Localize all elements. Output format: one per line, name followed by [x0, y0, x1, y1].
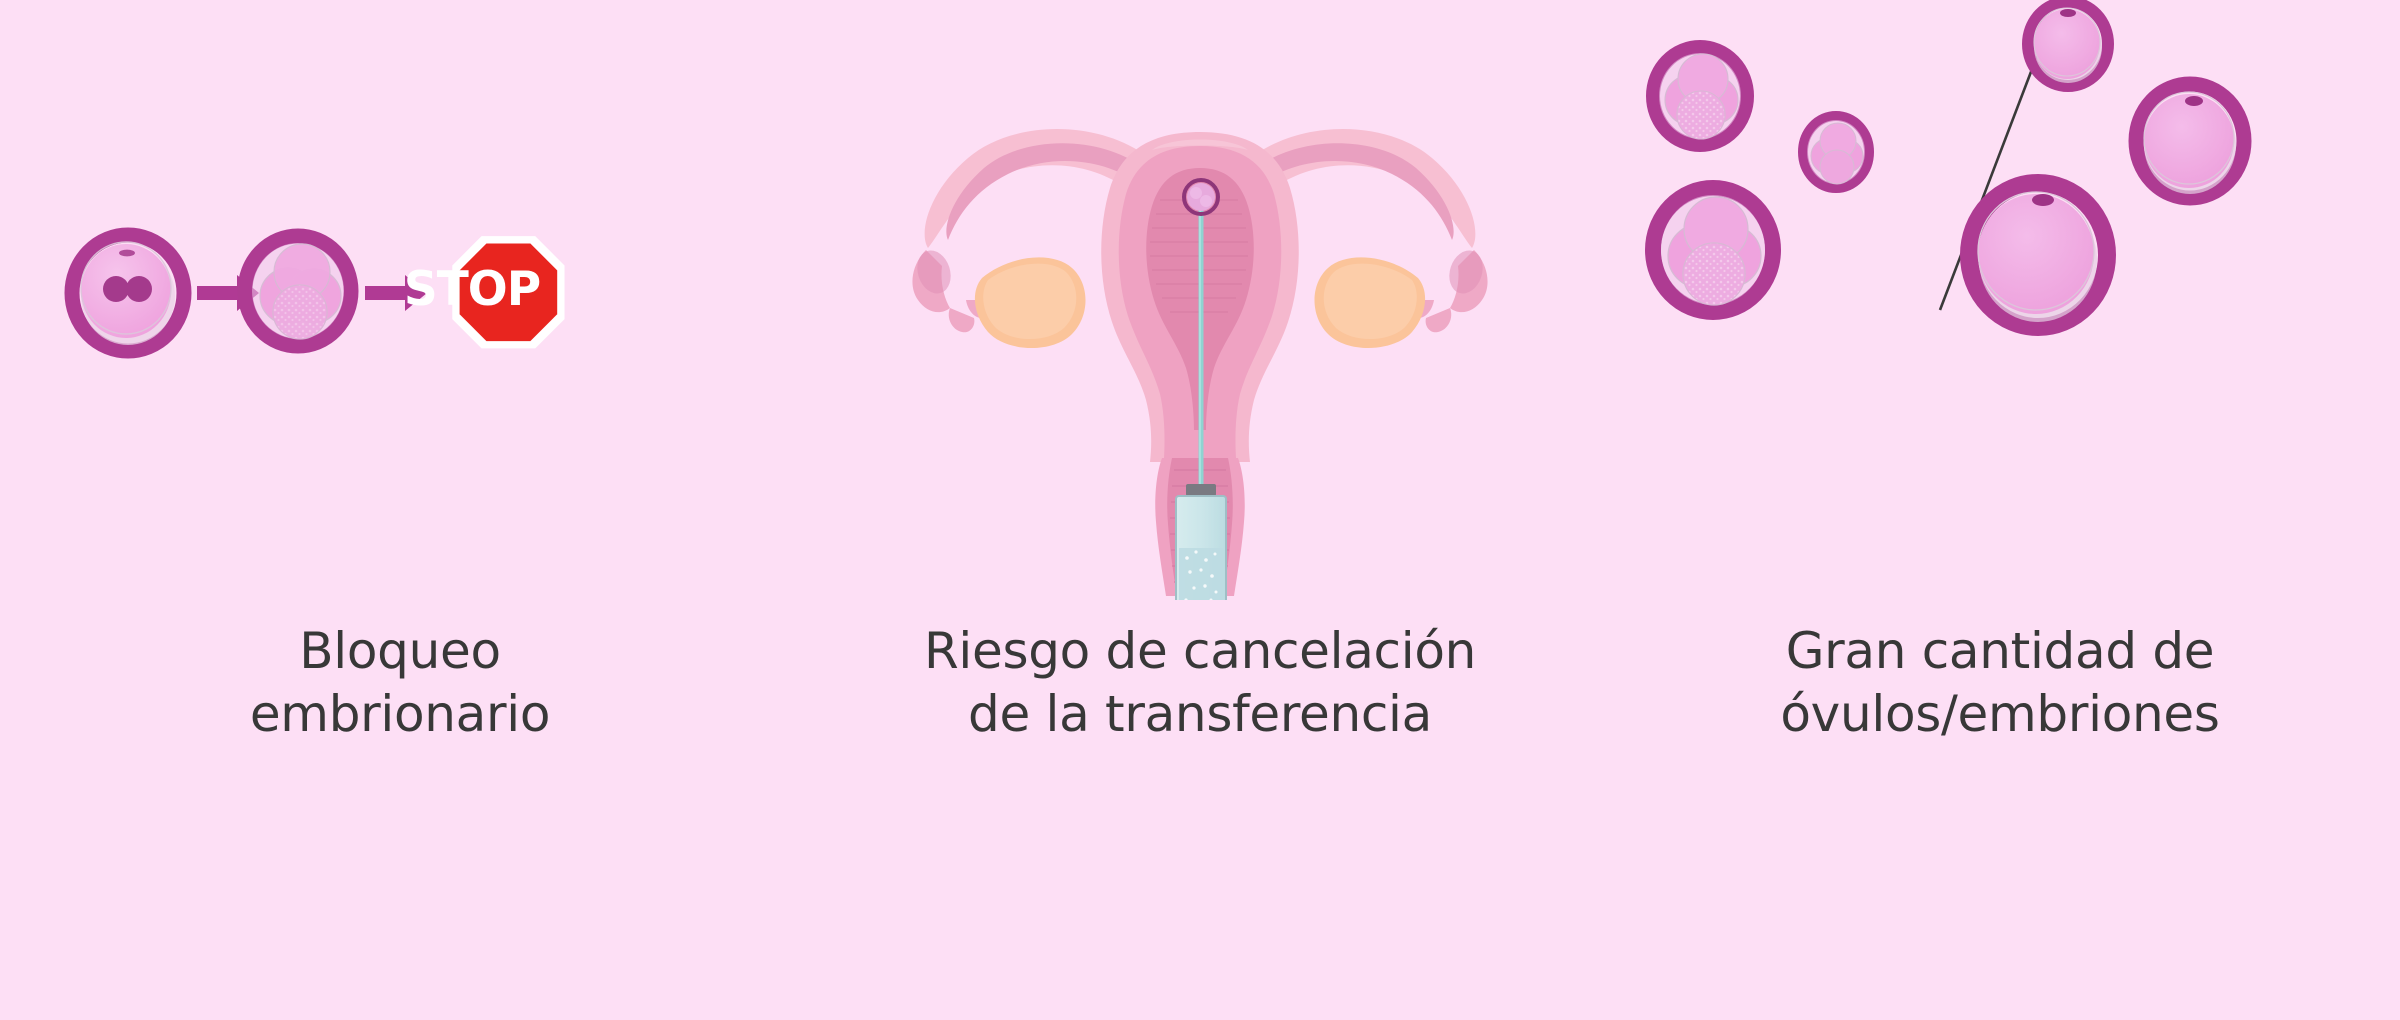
panel-many-eggs-embryos-artwork	[1600, 0, 2400, 600]
oocyte-icon	[2028, 2, 2108, 86]
four-cell-embryo-icon	[1803, 116, 1869, 188]
four-cell-embryo-icon	[1653, 47, 1747, 145]
panel-embryo-block: STOP Bloqueo embrionario	[0, 0, 800, 1020]
caption-line: Gran cantidad de	[1600, 620, 2400, 683]
caption-line: de la transferencia	[800, 683, 1600, 746]
caption-line: embrionario	[0, 683, 800, 746]
panel-embryo-block-caption: Bloqueo embrionario	[0, 620, 800, 745]
oocyte-icon	[1969, 183, 2107, 327]
panel-transfer-cancellation: Riesgo de cancelación de la transferenci…	[800, 0, 1600, 1020]
zygote-two-pronuclei-icon	[72, 235, 184, 351]
embryo-in-uterus-icon	[1184, 180, 1218, 214]
caption-line: óvulos/embriones	[1600, 683, 2400, 746]
syringe-icon	[1164, 484, 1238, 600]
four-cell-embryo-icon	[1653, 188, 1773, 312]
transfer-catheter-icon	[1200, 196, 1201, 490]
panel-many-eggs-embryos-caption: Gran cantidad de óvulos/embriones	[1600, 620, 2400, 745]
four-cell-embryo-icon	[245, 236, 351, 346]
panel-embryo-block-artwork: STOP	[0, 0, 800, 600]
stop-sign-icon: STOP	[404, 236, 565, 348]
caption-line: Riesgo de cancelación	[800, 620, 1600, 683]
oocyte-icon	[2136, 84, 2244, 198]
panel-many-eggs-embryos: Gran cantidad de óvulos/embriones	[1600, 0, 2400, 1020]
panel-transfer-cancellation-artwork	[800, 0, 1600, 600]
panel-transfer-cancellation-caption: Riesgo de cancelación de la transferenci…	[800, 620, 1600, 745]
infographic-root: STOP Bloqueo embrionario	[0, 0, 2400, 1020]
caption-line: Bloqueo	[0, 620, 800, 683]
stop-sign-label: STOP	[404, 262, 540, 317]
